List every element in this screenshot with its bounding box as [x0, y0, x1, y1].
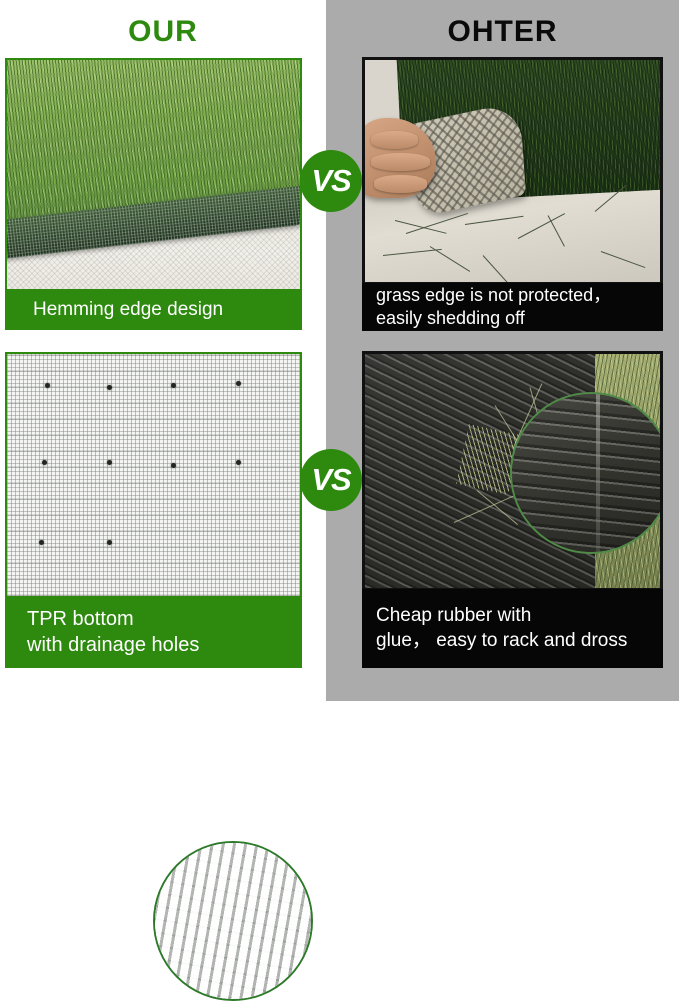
drainage-hole [236, 381, 241, 386]
magnified-tpr-weave [155, 843, 311, 999]
card-bottom-left: TPR bottom with drainage holes [5, 352, 302, 668]
vs-label: VS [311, 163, 350, 199]
header-our: OUR [0, 14, 326, 50]
caption-top-right: grass edge is not protected， easily shed… [362, 283, 663, 331]
caption-line-1: Cheap rubber with [376, 604, 663, 629]
caption-line-2: with drainage holes [27, 632, 302, 658]
caption-bottom-left: TPR bottom with drainage holes [5, 596, 302, 668]
caption-line-2: easily shedding off [376, 307, 663, 330]
magnifier-inset-rubber [510, 392, 663, 554]
caption-bottom-right: Cheap rubber with glue， easy to rack and… [362, 589, 663, 668]
card-bottom-right: Cheap rubber with glue， easy to rack and… [362, 351, 663, 668]
comparison-infographic: OUR OHTER Hemming edge design [0, 0, 679, 701]
card-top-right: grass edge is not protected， easily shed… [362, 57, 663, 331]
header-other: OHTER [326, 14, 679, 50]
magnifier-inset-tpr [153, 841, 313, 1001]
finger-1 [371, 131, 418, 149]
drainage-hole [107, 540, 112, 545]
card-top-left: Hemming edge design [5, 58, 302, 330]
photo-unprotected-edge [362, 57, 663, 285]
vs-label: VS [311, 462, 350, 498]
photo-tpr-bottom [5, 352, 302, 598]
tpr-backing-texture [7, 354, 300, 596]
finger-3 [374, 175, 427, 193]
caption-line-1: Hemming edge design [33, 299, 302, 321]
finger-2 [371, 153, 430, 171]
caption-top-left: Hemming edge design [5, 289, 302, 330]
drainage-hole [171, 463, 176, 468]
vs-badge-bottom: VS [300, 449, 362, 511]
vs-badge-top: VS [300, 150, 362, 212]
caption-line-1: grass edge is not protected， [376, 284, 663, 307]
rubber-glue-seam [596, 394, 600, 552]
photo-hemming-edge [5, 58, 302, 291]
caption-line-2: glue， easy to rack and dross [376, 629, 663, 654]
caption-line-1: TPR bottom [27, 606, 302, 632]
magnified-rubber-ridges [512, 394, 663, 552]
photo-cheap-rubber [362, 351, 663, 591]
